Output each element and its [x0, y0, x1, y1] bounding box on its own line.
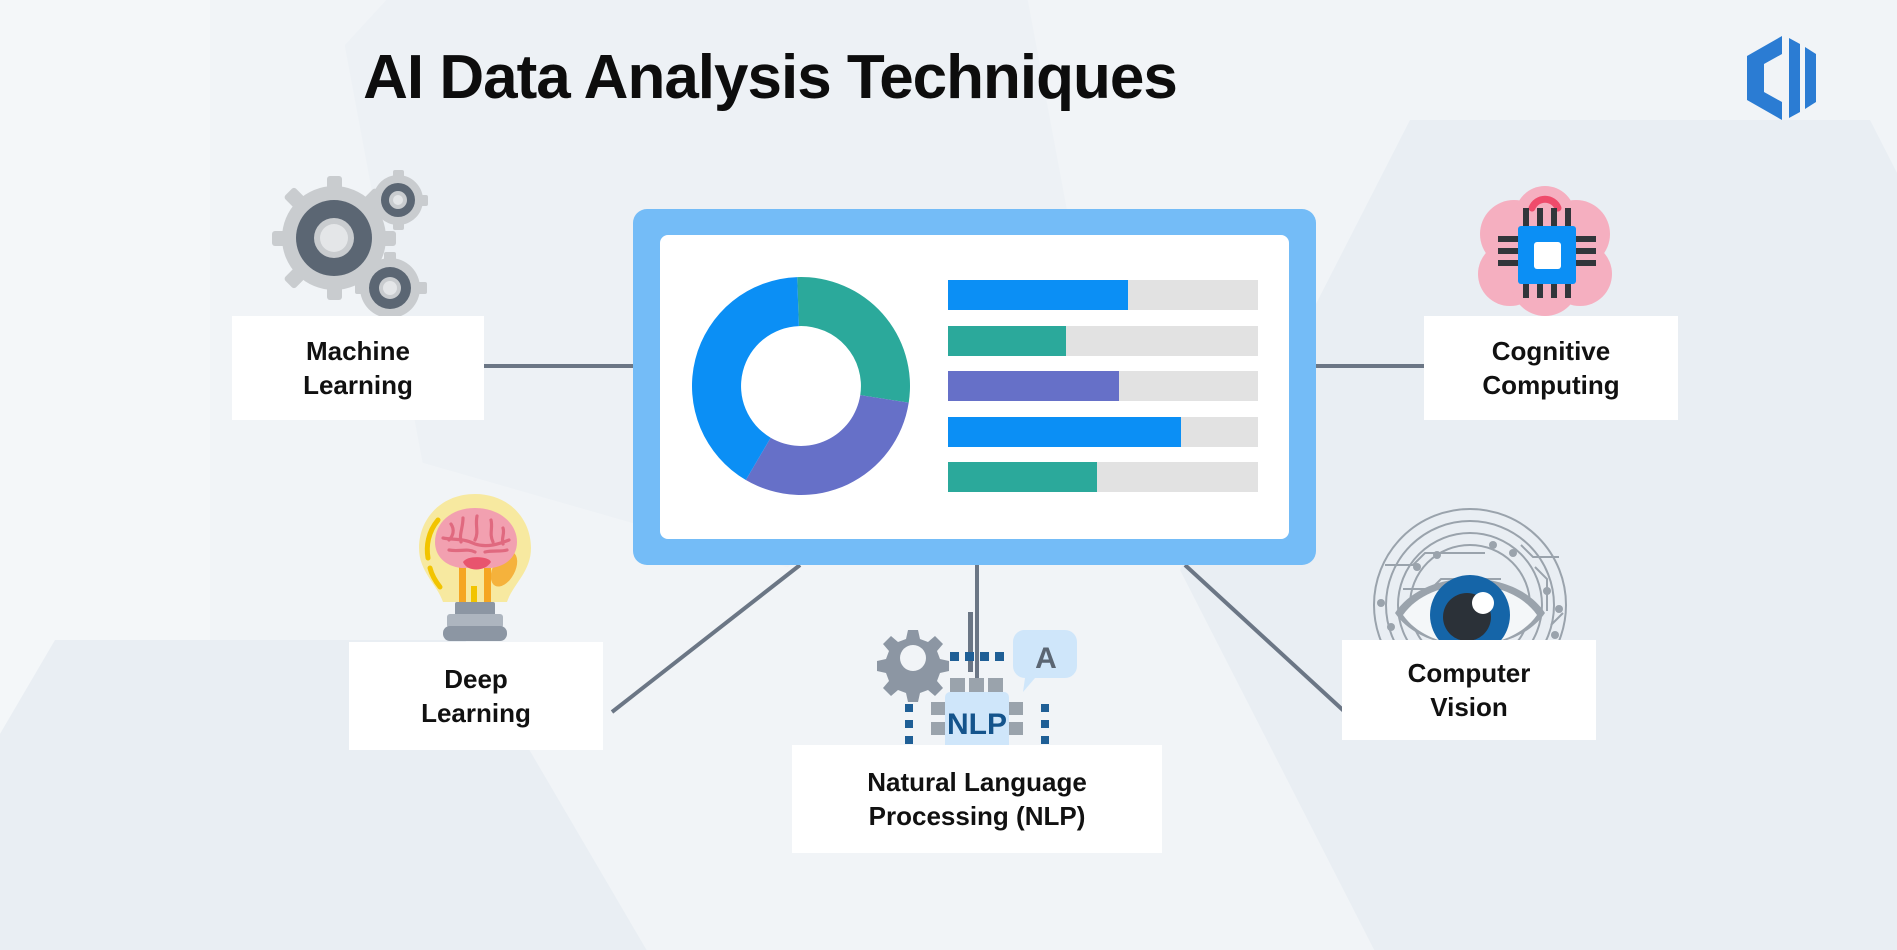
- bar-fill: [948, 417, 1181, 447]
- nlp-chip-label: NLP: [947, 708, 1007, 741]
- donut-segment: [746, 395, 909, 495]
- bar-track: [948, 280, 1258, 310]
- donut-chart: [692, 277, 910, 495]
- bar-fill: [948, 326, 1066, 356]
- node-card-machine-learning[interactable]: Machine Learning: [232, 316, 484, 420]
- gears-icon: [272, 170, 432, 320]
- node-card-nlp[interactable]: Natural Language Processing (NLP): [792, 745, 1162, 853]
- node-card-deep-learning[interactable]: Deep Learning: [349, 642, 603, 750]
- node-label-line1: Deep: [444, 664, 508, 694]
- infographic-canvas: AI Data Analysis Techniques: [0, 0, 1897, 950]
- bar-track: [948, 371, 1258, 401]
- lightbulb-brain-icon: [405, 490, 545, 645]
- wire-computer-vision: [1185, 565, 1345, 712]
- analytics-dashboard[interactable]: [633, 209, 1316, 565]
- node-label-line2: Learning: [421, 698, 531, 728]
- donut-segment: [797, 277, 910, 403]
- brain-chip-icon: [1470, 182, 1620, 322]
- bar-fill: [948, 280, 1128, 310]
- node-card-cognitive-computing[interactable]: Cognitive Computing: [1424, 316, 1678, 420]
- node-label-line2: Vision: [1430, 692, 1508, 722]
- node-card-computer-vision[interactable]: Computer Vision: [1342, 640, 1596, 740]
- page-title: AI Data Analysis Techniques: [0, 42, 1540, 113]
- bar-track: [948, 462, 1258, 492]
- eye-circuit-icon: [1355, 505, 1585, 655]
- node-label-line1: Natural Language: [867, 767, 1087, 797]
- nlp-chip-icon: NLP A: [865, 612, 1085, 752]
- node-label-line2: Processing (NLP): [869, 801, 1086, 831]
- bar-track: [948, 326, 1258, 356]
- node-label-line2: Learning: [303, 370, 413, 400]
- bar-fill: [948, 462, 1097, 492]
- node-label-line1: Machine: [306, 336, 410, 366]
- node-label-line2: Computing: [1482, 370, 1619, 400]
- horizontal-bar-chart: [948, 280, 1258, 492]
- node-label-line1: Cognitive: [1492, 336, 1610, 366]
- bar-fill: [948, 371, 1119, 401]
- company-hexagon-logo: [1742, 32, 1828, 124]
- wire-deep-learning: [612, 565, 800, 712]
- dashboard-surface: [660, 235, 1289, 539]
- bar-track: [948, 417, 1258, 447]
- nlp-bubble-label: A: [1035, 642, 1057, 675]
- donut-segments: [692, 277, 910, 495]
- node-label-line1: Computer: [1408, 658, 1531, 688]
